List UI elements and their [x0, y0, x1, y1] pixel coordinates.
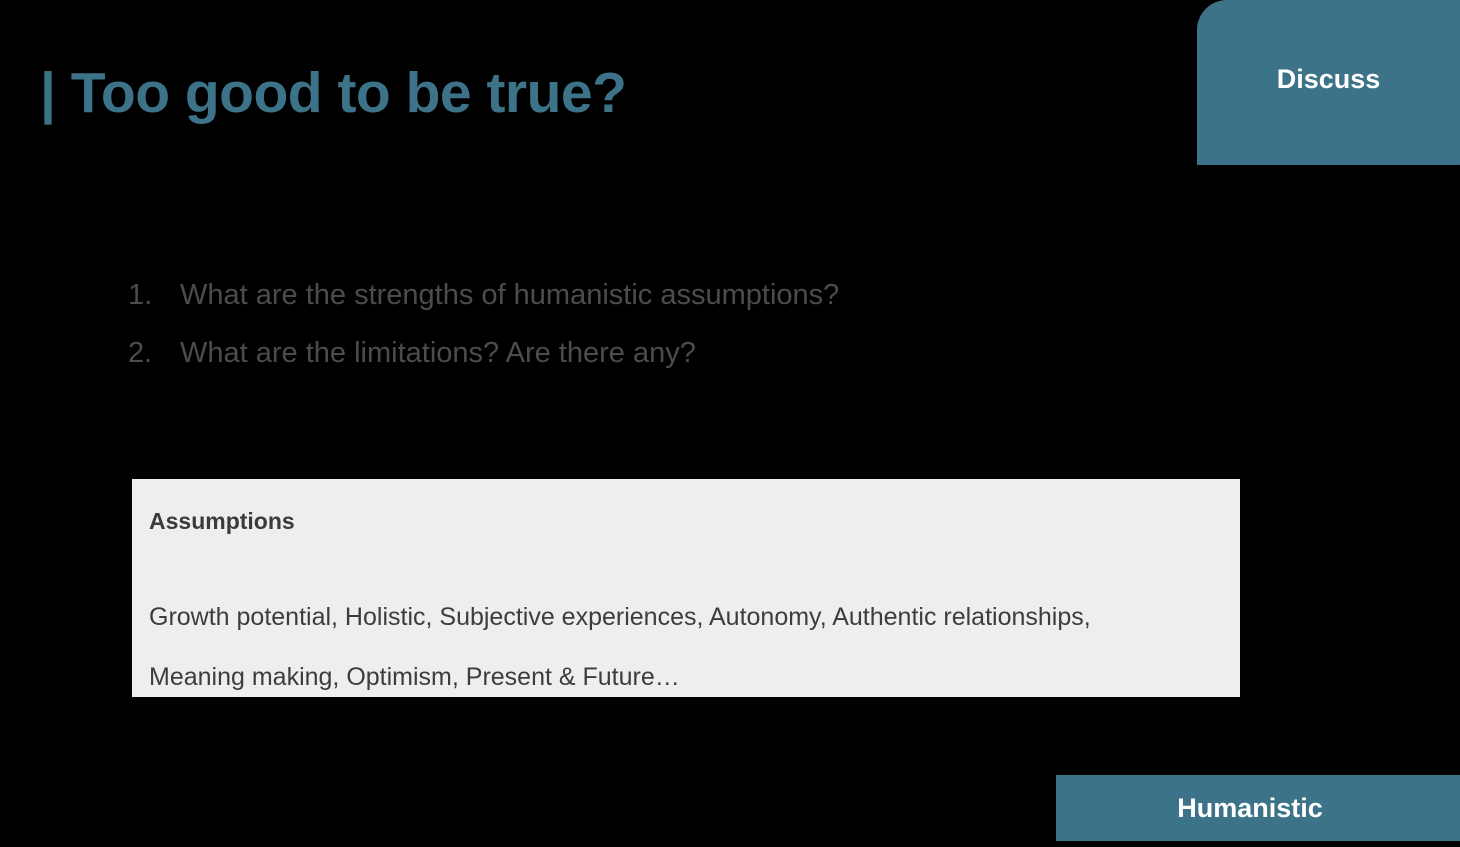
list-item-number: 2. — [128, 335, 180, 372]
assumptions-heading: Assumptions — [149, 510, 295, 533]
list-item: 2. What are the limitations? Are there a… — [128, 335, 1128, 372]
humanistic-badge-label: Humanistic — [1177, 795, 1339, 822]
humanistic-badge[interactable]: Humanistic — [1056, 775, 1460, 841]
discuss-badge-label: Discuss — [1197, 66, 1460, 93]
assumptions-panel: Assumptions Growth potential, Holistic, … — [132, 479, 1240, 697]
list-item: 1. What are the strengths of humanistic … — [128, 277, 1128, 314]
question-list: 1. What are the strengths of humanistic … — [128, 277, 1128, 393]
list-item-label: What are the strengths of humanistic ass… — [180, 277, 839, 314]
list-item-label: What are the limitations? Are there any? — [180, 335, 696, 372]
assumptions-body-text: Growth potential, Holistic, Subjective e… — [149, 587, 1149, 707]
discuss-badge[interactable]: Discuss — [1197, 0, 1460, 165]
slide-canvas: | Too good to be true? Discuss 1. What a… — [0, 0, 1460, 847]
list-item-number: 1. — [128, 277, 180, 314]
page-title: | Too good to be true? — [40, 61, 626, 127]
